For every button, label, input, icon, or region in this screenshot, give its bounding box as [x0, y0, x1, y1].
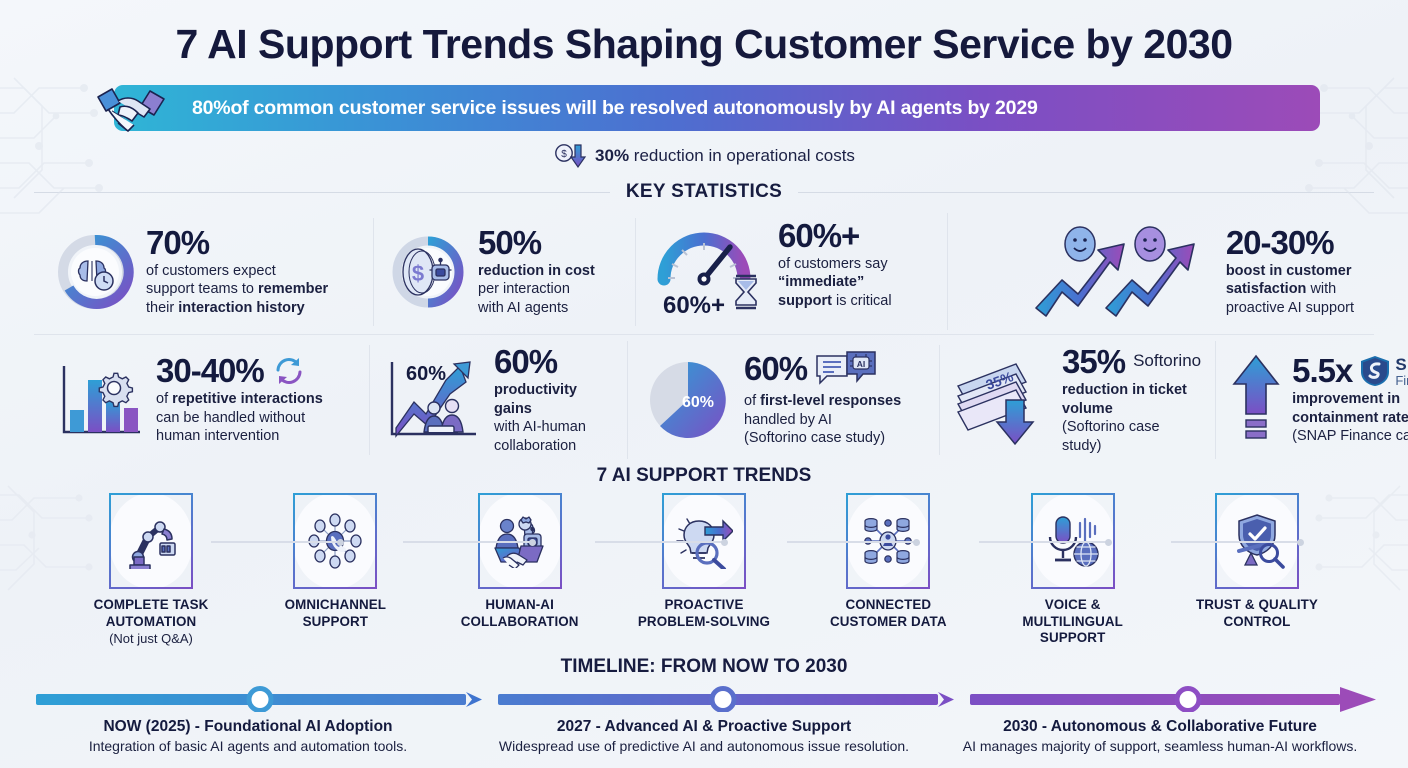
stat-body: 35% Softorino reduction in ticketvolume(… — [1062, 345, 1201, 455]
timeline-title: 2030 - Autonomous & Collaborative Future — [932, 718, 1388, 736]
trend-sublabel: (Not just Q&A) — [65, 631, 237, 646]
timeline-node-3 — [1177, 689, 1199, 711]
stat-body: 50% reduction in costper interactionwith… — [478, 226, 595, 318]
stat-desc: of customers expectsupport teams to reme… — [146, 262, 328, 318]
bar-chart-gear-refresh-icon — [54, 354, 146, 446]
stat-desc: of repetitive interactionscan be handled… — [156, 390, 323, 446]
stat-value: 70% — [146, 226, 328, 259]
section-title-timeline: TIMELINE: FROM NOW TO 2030 — [561, 656, 848, 677]
headline-banner-wrap: 80% of common customer service issues wi… — [88, 85, 1320, 131]
pie-label: 60% — [682, 394, 714, 411]
stat-card-5-5x-containment: 5.5x SNAP Finance improve — [1216, 345, 1408, 455]
trend-label: COMPLETE TASKAUTOMATION — [65, 597, 237, 630]
trend-item-voice-multilingual-support[interactable]: VOICE &MULTILINGUALSUPPORT — [987, 493, 1159, 646]
trend-label: CONNECTEDCUSTOMER DATA — [802, 597, 974, 630]
infographic-page: 7 AI Support Trends Shaping Customer Ser… — [0, 0, 1408, 768]
stat-desc: of first-level responseshandled by AI(So… — [744, 392, 901, 448]
trend-connector-4 — [787, 541, 917, 543]
stats-row-2: 30-40% of repetitive interactionscan be … — [20, 335, 1388, 459]
stat-value: 35% — [1062, 345, 1125, 378]
robot-arm-icon — [124, 513, 178, 569]
trend-connector-3 — [595, 541, 725, 543]
timeline-chevron-2 — [938, 692, 954, 707]
stat-value: 60% — [744, 352, 807, 385]
stat-desc: improvement incontainment rates(SNAP Fin… — [1292, 390, 1408, 446]
trends-row: COMPLETE TASKAUTOMATION (Not just Q&A) — [59, 493, 1349, 646]
subline: $ 30% reduction in operational costs — [0, 143, 1408, 169]
trend-label: HUMAN-AICOLLABORATION — [434, 597, 606, 630]
stat-body: 60% productivity gainswith AI-humancolla… — [494, 345, 613, 455]
header-rule-left — [34, 192, 610, 193]
cost-down-icon: $ — [553, 143, 587, 169]
trend-label: TRUST & QUALITYCONTROL — [1171, 597, 1343, 630]
stat-desc: boost in customersatisfaction withproact… — [1226, 262, 1354, 318]
stat-headline-row: 35% Softorino — [1062, 345, 1201, 381]
subline-highlight: 30% — [595, 146, 629, 165]
stat-card-35-percent-tickets: 35% 35% Softorino reduction in ticketvol… — [940, 341, 1216, 459]
timeline-node-1 — [249, 689, 271, 711]
trend-connector-6 — [1171, 541, 1301, 543]
stat-value: 60% — [494, 345, 613, 378]
stat-body: 30-40% of repetitive interactionscan be … — [156, 354, 323, 446]
stat-value: 30-40% — [156, 354, 264, 387]
trend-item-trust-quality-control[interactable]: TRUST & QUALITYCONTROL — [1171, 493, 1343, 630]
refresh-cycle-icon — [272, 356, 306, 386]
trend-item-connected-customer-data[interactable]: CONNECTEDCUSTOMER DATA — [802, 493, 974, 630]
section-title-trends: 7 AI SUPPORT TRENDS — [597, 465, 812, 486]
trend-item-human-ai-collaboration[interactable]: HUMAN-AICOLLABORATION — [434, 493, 606, 630]
brain-clock-donut-icon — [54, 231, 136, 313]
chat-ai-icon: AI — [815, 350, 877, 392]
stat-headline-row: 30-40% — [156, 354, 323, 390]
up-arrow-icon — [1230, 352, 1282, 448]
section-title-key-statistics: KEY STATISTICS — [626, 181, 782, 203]
stats-row-1: 70% of customers expectsupport teams to … — [20, 203, 1388, 330]
stat-body: 20-30% boost in customersatisfaction wit… — [1226, 226, 1354, 318]
trend-label: OMNICHANNELSUPPORT — [249, 597, 421, 630]
handshake-icon — [88, 77, 180, 139]
trend-label: PROACTIVEPROBLEM-SOLVING — [618, 597, 790, 630]
stat-card-20-30-percent: 20-30% boost in customersatisfaction wit… — [948, 218, 1368, 326]
brand-label-softorino: Softorino — [1133, 345, 1201, 371]
snap-wordmark-bottom: Finance — [1395, 374, 1408, 387]
timeline-title: NOW (2025) - Foundational AI Adoption — [20, 718, 476, 736]
growth-chart-people-icon: 60% — [384, 354, 484, 446]
timeline-milestone-2: 2027 - Advanced AI & Proactive Support W… — [476, 718, 932, 754]
trend-connector-1 — [211, 541, 341, 543]
stat-card-50-percent: $ 50% reduction in costper interactionwi… — [374, 218, 636, 326]
snap-finance-logo: SNAP Finance — [1360, 354, 1408, 387]
timeline-desc: Widespread use of predictive AI and auto… — [476, 738, 932, 754]
timeline-node-2 — [712, 689, 734, 711]
banner-highlight: 80% — [192, 97, 230, 120]
headline-banner: 80% of common customer service issues wi… — [114, 85, 1320, 131]
stat-card-70-percent: 70% of customers expectsupport teams to … — [40, 218, 374, 326]
section-header-key-statistics: KEY STATISTICS — [34, 181, 1374, 203]
header-rule-right — [798, 192, 1374, 193]
timeline-chevron-1 — [466, 692, 482, 707]
svg-text:$: $ — [561, 149, 567, 160]
stat-desc: of customers say“immediate”support is cr… — [778, 255, 892, 311]
stat-body: 70% of customers expectsupport teams to … — [146, 226, 328, 318]
timeline-title: 2027 - Advanced AI & Proactive Support — [476, 718, 932, 736]
timeline-desc: Integration of basic AI agents and autom… — [20, 738, 476, 754]
trend-item-complete-task-automation[interactable]: COMPLETE TASKAUTOMATION (Not just Q&A) — [65, 493, 237, 646]
stat-card-60-plus-percent: 60%+ 60%+ of customers say“immediate”sup… — [636, 213, 948, 330]
subline-text: reduction in operational costs — [629, 146, 855, 165]
stat-value: 20-30% — [1226, 226, 1354, 259]
tickets-down-arrow-icon: 35% — [954, 352, 1052, 448]
timeline-milestone-3: 2030 - Autonomous & Collaborative Future… — [932, 718, 1388, 754]
banner-text: of common customer service issues will b… — [230, 97, 1037, 120]
timeline-axis — [20, 686, 1388, 712]
trend-item-proactive-problem-solving[interactable]: PROACTIVEPROBLEM-SOLVING — [618, 493, 790, 630]
stat-headline-row: 60% AI — [744, 352, 901, 392]
stat-desc: reduction in ticketvolume(Softorino case… — [1062, 381, 1201, 455]
stat-body: 5.5x SNAP Finance improve — [1292, 354, 1408, 446]
stat-desc: productivity gainswith AI-humancollabora… — [494, 381, 613, 455]
stat-card-60-percent-first-level: 60% 60% AI of first-level responseshandl — [628, 345, 940, 455]
timeline-end-arrow — [1340, 687, 1376, 712]
stat-value: 5.5x — [1292, 354, 1352, 387]
stat-headline-row: 5.5x SNAP Finance — [1292, 354, 1408, 390]
stat-body: 60%+ of customers say“immediate”support … — [778, 219, 892, 325]
timeline-labels: NOW (2025) - Foundational AI Adoption In… — [20, 718, 1388, 754]
page-title: 7 AI Support Trends Shaping Customer Ser… — [0, 0, 1408, 67]
svg-text:AI: AI — [857, 359, 866, 369]
stat-desc: reduction in costper interactionwith AI … — [478, 262, 595, 318]
svg-text:$: $ — [412, 261, 424, 286]
trend-label: VOICE &MULTILINGUALSUPPORT — [987, 597, 1159, 646]
rising-arrows-smiley-icon — [1032, 224, 1212, 320]
gauge-hourglass-icon: 60%+ — [650, 217, 768, 321]
snap-wordmark-top: SNAP — [1395, 356, 1408, 373]
coin-robot-donut-icon: $ — [388, 231, 468, 313]
stat-value: 60%+ — [778, 219, 892, 252]
snap-shield-icon — [1360, 355, 1390, 387]
stat-card-60-percent-productivity: 60% 60% productivity gainswith AI-humanc… — [370, 341, 628, 459]
gauge-group: 60%+ — [650, 217, 768, 326]
timeline-milestone-1: NOW (2025) - Foundational AI Adoption In… — [20, 718, 476, 754]
trend-bubble — [109, 493, 193, 589]
stat-value: 50% — [478, 226, 595, 259]
timeline-desc: AI manages majority of support, seamless… — [932, 738, 1388, 754]
stat-body: 60% AI of first-level responseshandled b… — [744, 352, 901, 448]
trend-item-omnichannel-support[interactable]: OMNICHANNELSUPPORT — [249, 493, 421, 630]
chart-label: 60% — [406, 363, 446, 385]
pie-chart-icon: 60% — [642, 354, 734, 446]
trend-connector-2 — [403, 541, 533, 543]
gauge-label: 60%+ — [663, 292, 725, 319]
trend-connector-5 — [979, 541, 1109, 543]
stat-card-30-40-percent: 30-40% of repetitive interactionscan be … — [40, 345, 370, 455]
